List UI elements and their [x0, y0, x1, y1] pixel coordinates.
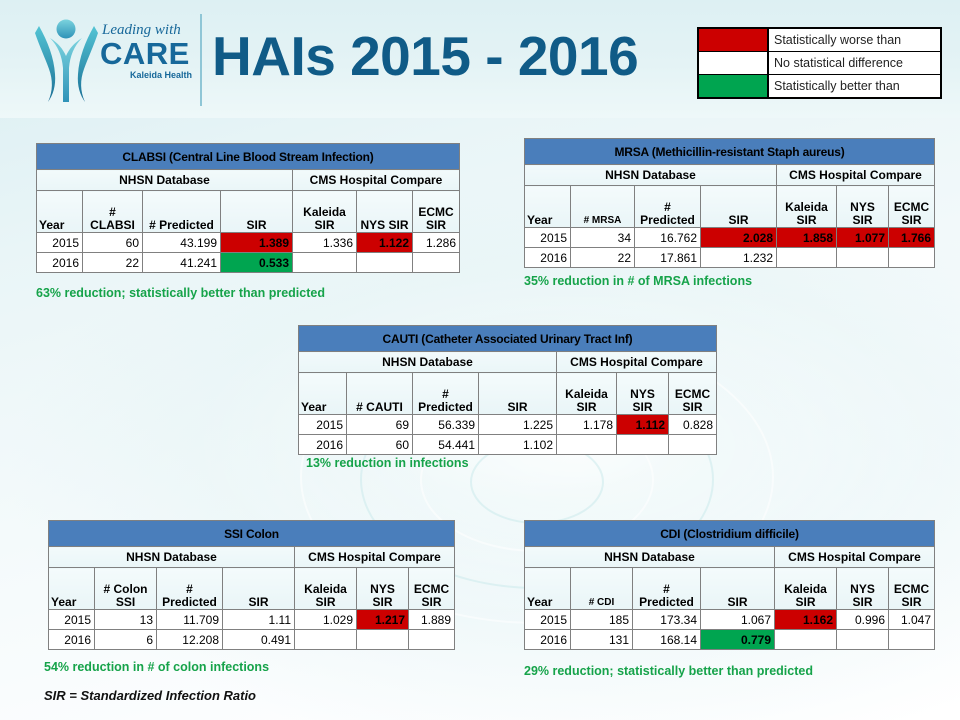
header-predicted: # Predicted	[413, 373, 479, 415]
legend-label-worse: Statistically worse than	[769, 29, 940, 51]
cell-count: 60	[347, 435, 413, 455]
table-group-row: NHSN Database CMS Hospital Compare	[525, 165, 935, 186]
header-sir: SIR	[223, 568, 295, 610]
mrsa-note: 35% reduction in # of MRSA infections	[524, 274, 752, 288]
sir-definition-footnote: SIR = Standardized Infection Ratio	[44, 688, 256, 703]
cell-ecmc-sir: 1.766	[889, 228, 935, 248]
header-ecmc-sir: ECMC SIR	[889, 186, 935, 228]
slide-canvas: Leading with CARE Kaleida Health HAIs 20…	[0, 0, 960, 720]
header-year: Year	[525, 568, 571, 610]
table-group-row: NHSN Database CMS Hospital Compare	[525, 547, 935, 568]
cell-sir: 1.232	[701, 248, 777, 268]
table-title-row: CDI (Clostridium difficile)	[525, 521, 935, 547]
cell-predicted: 11.709	[157, 610, 223, 630]
clabsi-title: CLABSI (Central Line Blood Stream Infect…	[37, 144, 460, 170]
header-ecmc-sir: ECMC SIR	[409, 568, 455, 610]
cell-kaleida-sir	[777, 248, 837, 268]
group-nhsn: NHSN Database	[299, 352, 557, 373]
page-title: HAIs 2015 - 2016	[212, 24, 638, 88]
legend-label-none: No statistical difference	[769, 52, 940, 74]
table-row: 2016 60 54.441 1.102	[299, 435, 717, 455]
clabsi-table: CLABSI (Central Line Blood Stream Infect…	[36, 143, 460, 273]
group-nhsn: NHSN Database	[49, 547, 295, 568]
group-cms: CMS Hospital Compare	[295, 547, 455, 568]
legend-row-better: Statistically better than	[699, 75, 940, 97]
cell-predicted: 168.14	[633, 630, 701, 650]
cell-kaleida-sir: 1.162	[775, 610, 837, 630]
cell-nys-sir: 1.112	[617, 415, 669, 435]
cell-nys-sir	[357, 253, 413, 273]
header-kaleida-sir: Kaleida SIR	[557, 373, 617, 415]
cell-predicted: 173.34	[633, 610, 701, 630]
group-cms: CMS Hospital Compare	[775, 547, 935, 568]
table-title-row: SSI Colon	[49, 521, 455, 547]
cdi-table: CDI (Clostridium difficile) NHSN Databas…	[524, 520, 935, 650]
cell-sir: 1.389	[221, 233, 293, 253]
header-year: Year	[49, 568, 95, 610]
cell-sir: 0.491	[223, 630, 295, 650]
cell-ecmc-sir	[409, 630, 455, 650]
cell-year: 2016	[299, 435, 347, 455]
cell-predicted: 43.199	[143, 233, 221, 253]
cell-count: 22	[83, 253, 143, 273]
group-nhsn: NHSN Database	[37, 170, 293, 191]
cell-count: 22	[571, 248, 635, 268]
table-header-row: Year # CDI # Predicted SIR Kaleida SIR N…	[525, 568, 935, 610]
cell-nys-sir: 1.217	[357, 610, 409, 630]
header-nys-sir: NYS SIR	[837, 568, 889, 610]
clabsi-note: 63% reduction; statistically better than…	[36, 286, 325, 300]
legend-swatch-better	[699, 75, 769, 97]
cell-predicted: 56.339	[413, 415, 479, 435]
cell-ecmc-sir	[669, 435, 717, 455]
cdi-note: 29% reduction; statistically better than…	[524, 664, 813, 678]
mrsa-table-card: MRSA (Methicillin-resistant Staph aureus…	[524, 138, 935, 268]
cell-count: 6	[95, 630, 157, 650]
table-row: 2015 13 11.709 1.11 1.029 1.217 1.889	[49, 610, 455, 630]
header-count: # CAUTI	[347, 373, 413, 415]
cell-year: 2015	[37, 233, 83, 253]
cell-ecmc-sir: 1.047	[889, 610, 935, 630]
cell-ecmc-sir	[889, 630, 935, 650]
header-year: Year	[525, 186, 571, 228]
ssi-table-card: SSI Colon NHSN Database CMS Hospital Com…	[48, 520, 455, 650]
cell-kaleida-sir	[557, 435, 617, 455]
cell-kaleida-sir	[295, 630, 357, 650]
cell-predicted: 54.441	[413, 435, 479, 455]
cell-year: 2015	[49, 610, 95, 630]
table-header-row: Year # CAUTI # Predicted SIR Kaleida SIR…	[299, 373, 717, 415]
table-header-row: Year # CLABSI # Predicted SIR Kaleida SI…	[37, 191, 460, 233]
cell-sir: 1.225	[479, 415, 557, 435]
cauti-note: 13% reduction in infections	[306, 456, 469, 470]
header-kaleida-sir: Kaleida SIR	[293, 191, 357, 233]
svg-text:Kaleida Health: Kaleida Health	[130, 70, 192, 80]
cell-sir: 1.11	[223, 610, 295, 630]
cell-predicted: 17.861	[635, 248, 701, 268]
legend-label-better: Statistically better than	[769, 75, 940, 97]
header-predicted: # Predicted	[157, 568, 223, 610]
group-cms: CMS Hospital Compare	[293, 170, 460, 191]
header-kaleida-sir: Kaleida SIR	[295, 568, 357, 610]
cell-count: 60	[83, 233, 143, 253]
cell-kaleida-sir: 1.858	[777, 228, 837, 248]
table-title-row: CAUTI (Catheter Associated Urinary Tract…	[299, 326, 717, 352]
cell-year: 2016	[37, 253, 83, 273]
header-count: # MRSA	[571, 186, 635, 228]
cell-ecmc-sir: 1.889	[409, 610, 455, 630]
cell-count: 69	[347, 415, 413, 435]
cdi-title: CDI (Clostridium difficile)	[525, 521, 935, 547]
cell-predicted: 16.762	[635, 228, 701, 248]
table-group-row: NHSN Database CMS Hospital Compare	[299, 352, 717, 373]
cell-year: 2016	[525, 630, 571, 650]
table-row: 2016 131 168.14 0.779	[525, 630, 935, 650]
cell-nys-sir	[617, 435, 669, 455]
group-cms: CMS Hospital Compare	[557, 352, 717, 373]
cell-year: 2016	[49, 630, 95, 650]
legend-row-none: No statistical difference	[699, 52, 940, 75]
table-group-row: NHSN Database CMS Hospital Compare	[49, 547, 455, 568]
header-count: # CLABSI	[83, 191, 143, 233]
table-row: 2015 185 173.34 1.067 1.162 0.996 1.047	[525, 610, 935, 630]
table-header-row: Year # Colon SSI # Predicted SIR Kaleida…	[49, 568, 455, 610]
cell-kaleida-sir: 1.029	[295, 610, 357, 630]
ssi-colon-table: SSI Colon NHSN Database CMS Hospital Com…	[48, 520, 455, 650]
table-group-row: NHSN Database CMS Hospital Compare	[37, 170, 460, 191]
header-ecmc-sir: ECMC SIR	[413, 191, 460, 233]
cell-year: 2015	[525, 610, 571, 630]
cell-ecmc-sir	[889, 248, 935, 268]
cell-count: 131	[571, 630, 633, 650]
table-title-row: CLABSI (Central Line Blood Stream Infect…	[37, 144, 460, 170]
header-ecmc-sir: ECMC SIR	[669, 373, 717, 415]
table-row: 2015 60 43.199 1.389 1.336 1.122 1.286	[37, 233, 460, 253]
table-header-row: Year # MRSA # Predicted SIR Kaleida SIR …	[525, 186, 935, 228]
cell-nys-sir: 0.996	[837, 610, 889, 630]
header-nys-sir: NYS SIR	[357, 568, 409, 610]
cell-nys-sir	[837, 630, 889, 650]
cell-sir: 1.102	[479, 435, 557, 455]
header-ecmc-sir: ECMC SIR	[889, 568, 935, 610]
header-sir: SIR	[701, 186, 777, 228]
cell-ecmc-sir: 1.286	[413, 233, 460, 253]
cell-nys-sir	[357, 630, 409, 650]
cell-year: 2015	[525, 228, 571, 248]
table-row: 2016 6 12.208 0.491	[49, 630, 455, 650]
cell-sir: 0.533	[221, 253, 293, 273]
cell-nys-sir: 1.122	[357, 233, 413, 253]
cell-nys-sir	[837, 248, 889, 268]
cauti-title: CAUTI (Catheter Associated Urinary Tract…	[299, 326, 717, 352]
legend-swatch-none	[699, 52, 769, 74]
header-nys-sir: NYS SIR	[617, 373, 669, 415]
statistical-significance-legend: Statistically worse than No statistical …	[697, 27, 942, 99]
cell-predicted: 12.208	[157, 630, 223, 650]
cdi-table-card: CDI (Clostridium difficile) NHSN Databas…	[524, 520, 935, 650]
cell-year: 2015	[299, 415, 347, 435]
group-nhsn: NHSN Database	[525, 165, 777, 186]
logo-divider	[200, 14, 202, 106]
cell-count: 34	[571, 228, 635, 248]
cell-ecmc-sir	[413, 253, 460, 273]
table-title-row: MRSA (Methicillin-resistant Staph aureus…	[525, 139, 935, 165]
svg-text:CARE: CARE	[100, 36, 190, 71]
cell-kaleida-sir	[775, 630, 837, 650]
cell-sir: 2.028	[701, 228, 777, 248]
mrsa-table: MRSA (Methicillin-resistant Staph aureus…	[524, 138, 935, 268]
table-row: 2016 22 17.861 1.232	[525, 248, 935, 268]
header-predicted: # Predicted	[633, 568, 701, 610]
cauti-table: CAUTI (Catheter Associated Urinary Tract…	[298, 325, 717, 455]
header-sir: SIR	[701, 568, 775, 610]
cell-ecmc-sir: 0.828	[669, 415, 717, 435]
header-sir: SIR	[479, 373, 557, 415]
cell-predicted: 41.241	[143, 253, 221, 273]
legend-row-worse: Statistically worse than	[699, 29, 940, 52]
header-predicted: # Predicted	[143, 191, 221, 233]
header-predicted: # Predicted	[635, 186, 701, 228]
cell-kaleida-sir	[293, 253, 357, 273]
clabsi-table-card: CLABSI (Central Line Blood Stream Infect…	[36, 143, 460, 273]
header-count: # CDI	[571, 568, 633, 610]
cell-sir: 0.779	[701, 630, 775, 650]
header-nys-sir: NYS SIR	[357, 191, 413, 233]
cell-kaleida-sir: 1.178	[557, 415, 617, 435]
cauti-table-card: CAUTI (Catheter Associated Urinary Tract…	[298, 325, 717, 455]
table-row: 2016 22 41.241 0.533	[37, 253, 460, 273]
header-kaleida-sir: Kaleida SIR	[775, 568, 837, 610]
table-row: 2015 34 16.762 2.028 1.858 1.077 1.766	[525, 228, 935, 248]
ssi-note: 54% reduction in # of colon infections	[44, 660, 269, 674]
header-nys-sir: NYS SIR	[837, 186, 889, 228]
legend-swatch-worse	[699, 29, 769, 51]
cell-year: 2016	[525, 248, 571, 268]
mrsa-title: MRSA (Methicillin-resistant Staph aureus…	[525, 139, 935, 165]
ssi-title: SSI Colon	[49, 521, 455, 547]
group-cms: CMS Hospital Compare	[777, 165, 935, 186]
cell-count: 13	[95, 610, 157, 630]
header-year: Year	[37, 191, 83, 233]
cell-sir: 1.067	[701, 610, 775, 630]
header-kaleida-sir: Kaleida SIR	[777, 186, 837, 228]
header-year: Year	[299, 373, 347, 415]
group-nhsn: NHSN Database	[525, 547, 775, 568]
cell-count: 185	[571, 610, 633, 630]
leading-with-care-logo: Leading with CARE Kaleida Health	[22, 12, 197, 110]
cell-kaleida-sir: 1.336	[293, 233, 357, 253]
header-sir: SIR	[221, 191, 293, 233]
table-row: 2015 69 56.339 1.225 1.178 1.112 0.828	[299, 415, 717, 435]
header-count: # Colon SSI	[95, 568, 157, 610]
cell-nys-sir: 1.077	[837, 228, 889, 248]
